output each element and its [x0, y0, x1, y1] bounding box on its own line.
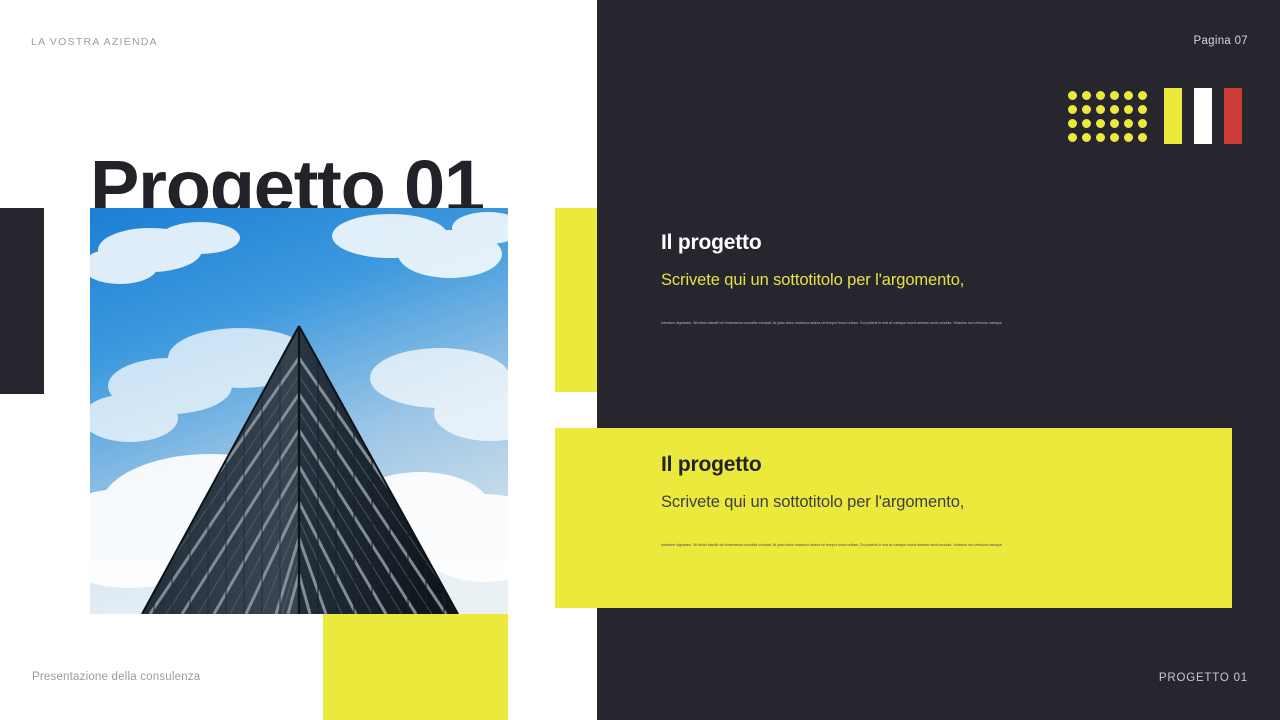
dot — [1124, 105, 1133, 114]
decorative-graphic — [1068, 88, 1242, 144]
dot — [1138, 133, 1147, 142]
dot — [1124, 91, 1133, 100]
presentation-slide: LA VOSTRA AZIENDA Progetto 01 — [0, 0, 1280, 720]
dot — [1096, 105, 1105, 114]
dot — [1138, 119, 1147, 128]
bar-yellow-icon — [1164, 88, 1182, 144]
dot-grid-icon — [1068, 88, 1152, 144]
dot — [1096, 91, 1105, 100]
content-block-dark-body: Interdum dignissim. Sit tellus blandit v… — [661, 320, 1121, 326]
left-dark-accent-block — [0, 208, 44, 394]
page-number-label: Pagina 07 — [1194, 35, 1249, 47]
content-block-yellow-body: Interdum dignissim. Sit tellus blandit v… — [661, 542, 1121, 548]
dot — [1110, 133, 1119, 142]
dot — [1110, 91, 1119, 100]
yellow-accent-bar — [555, 208, 597, 392]
dot — [1110, 119, 1119, 128]
company-eyebrow: LA VOSTRA AZIENDA — [31, 36, 158, 48]
dot — [1068, 119, 1077, 128]
bar-white-icon — [1194, 88, 1212, 144]
dot — [1138, 91, 1147, 100]
dot — [1124, 133, 1133, 142]
content-block-yellow-subtitle: Scrivete qui un sottotitolo per l'argome… — [661, 493, 1121, 512]
footer-left-label: Presentazione della consulenza — [32, 671, 200, 683]
dot — [1068, 91, 1077, 100]
content-block-yellow-card: Il progetto Scrivete qui un sottotitolo … — [555, 428, 1232, 608]
dot — [1082, 119, 1091, 128]
dot — [1096, 133, 1105, 142]
content-block-dark-title: Il progetto — [661, 231, 1121, 255]
content-block-yellow-title: Il progetto — [661, 453, 1121, 477]
dot — [1082, 105, 1091, 114]
project-photo — [90, 208, 508, 614]
dot — [1068, 105, 1077, 114]
content-block-yellow-inner: Il progetto Scrivete qui un sottotitolo … — [661, 453, 1121, 548]
dot — [1124, 119, 1133, 128]
content-block-dark: Il progetto Scrivete qui un sottotitolo … — [661, 231, 1121, 326]
dot — [1082, 91, 1091, 100]
content-block-dark-subtitle: Scrivete qui un sottotitolo per l'argome… — [661, 271, 1121, 290]
bar-red-icon — [1224, 88, 1242, 144]
dot — [1068, 133, 1077, 142]
bottom-yellow-accent-block — [323, 614, 508, 720]
dot — [1082, 133, 1091, 142]
dot — [1110, 105, 1119, 114]
dot — [1096, 119, 1105, 128]
dot — [1138, 105, 1147, 114]
footer-right-label: PROGETTO 01 — [1159, 672, 1248, 684]
